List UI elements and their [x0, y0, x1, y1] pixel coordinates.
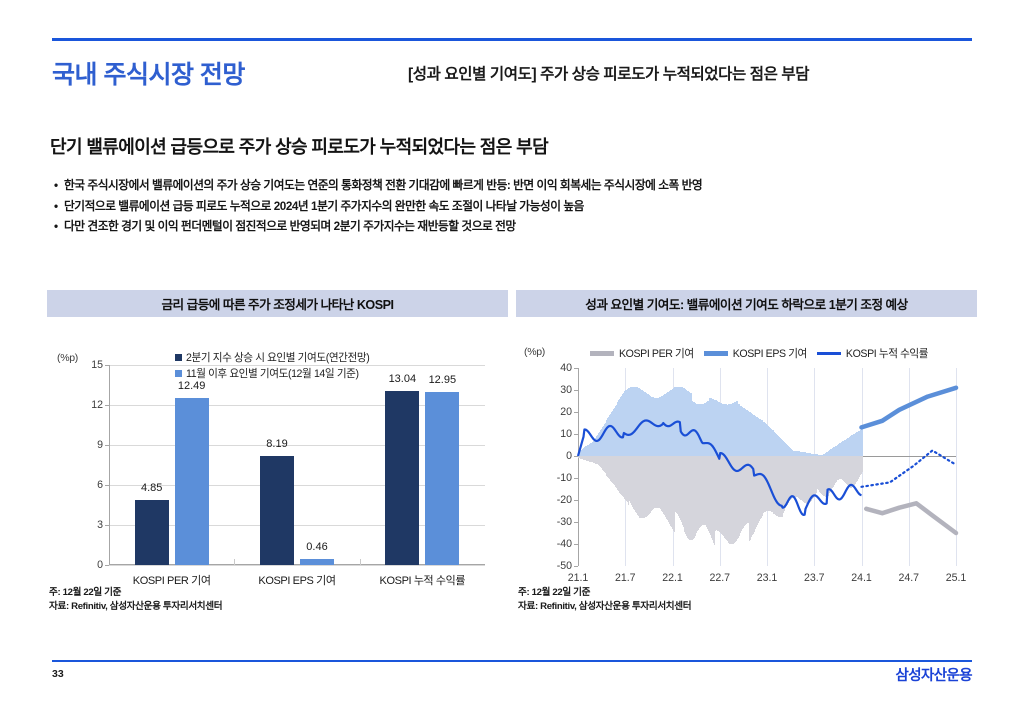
legend-entry: KOSPI EPS 기여	[704, 346, 807, 361]
legend-swatch-icon	[817, 352, 841, 355]
x-axis-category-label: KOSPI EPS 기여	[258, 572, 335, 588]
cumulative-return-line	[578, 420, 862, 515]
legend-swatch-icon	[590, 351, 614, 356]
bar-value-label: 0.46	[306, 541, 327, 553]
y-axis-tick-label: 9	[97, 439, 103, 451]
page-number: 33	[52, 668, 64, 680]
right-axis-unit: (%p)	[524, 346, 545, 358]
y-axis-tick-label: 20	[560, 406, 572, 418]
brand-logo: 삼성자산운용	[896, 664, 972, 685]
left-plot-area: 036912154.8512.49KOSPI PER 기여8.190.46KOS…	[109, 365, 485, 565]
y-axis-tick-mark	[574, 566, 578, 567]
legend-label: KOSPI 누적 수익률	[846, 346, 928, 361]
y-axis-tick-label: 40	[560, 362, 572, 374]
bullet-marker-icon: •	[54, 217, 64, 238]
left-note-2: 자료: Refinitiv, 삼성자산운용 투자리서치센터	[49, 600, 222, 614]
legend-entry: 2분기 지수 상승 시 요인별 기여도(연간전망)	[175, 349, 369, 365]
y-axis-tick-label: 10	[560, 428, 572, 440]
legend-label: KOSPI EPS 기여	[733, 346, 807, 361]
legend-entry: KOSPI 누적 수익률	[817, 346, 928, 361]
cumulative-return-forecast-line	[862, 451, 957, 487]
right-chart-legend: KOSPI PER 기여KOSPI EPS 기여KOSPI 누적 수익률	[590, 346, 928, 361]
bar-value-label: 12.95	[429, 374, 457, 386]
right-chart-lines	[578, 368, 956, 566]
y-axis-tick-label: 6	[97, 479, 103, 491]
bar-annual	[385, 391, 419, 565]
gridline	[109, 565, 485, 566]
left-panel-title: 금리 급등에 따른 주가 조정세가 나타난 KOSPI	[161, 294, 393, 313]
bullet-text: 한국 주식시장에서 밸류에이션의 주가 상승 기여도는 연준의 통화정책 전환 …	[64, 176, 702, 197]
category-separator	[234, 559, 235, 565]
lead-statement: 단기 밸류에이션 급등으로 주가 상승 피로도가 누적되었다는 점은 부담	[50, 133, 548, 159]
bar-value-label: 13.04	[389, 373, 417, 385]
right-plot-area: 403020100-10-20-30-40-5021.121.722.122.7…	[578, 368, 956, 566]
bar-recent	[425, 392, 459, 565]
y-axis-tick-label: 12	[91, 399, 103, 411]
y-axis-tick-mark	[105, 565, 109, 566]
x-axis-category-label: KOSPI PER 기여	[133, 572, 211, 588]
x-axis-tick-label: 25.1	[946, 572, 967, 584]
bullet-text: 다만 견조한 경기 및 이익 펀더멘털이 점진적으로 반영되며 2분기 주가지수…	[64, 217, 516, 238]
eps-forecast-line	[862, 388, 957, 428]
y-axis-tick-label: -10	[557, 472, 572, 484]
x-axis-tick-label: 23.7	[804, 572, 825, 584]
legend-label: 2분기 지수 상승 시 요인별 기여도(연간전망)	[186, 350, 369, 365]
bar-annual	[260, 456, 294, 565]
y-axis-tick-label: 3	[97, 519, 103, 531]
legend-swatch-icon	[704, 351, 728, 356]
bar-annual	[135, 500, 169, 565]
legend-swatch-icon	[175, 354, 182, 361]
bullet-marker-icon: •	[54, 197, 64, 218]
x-axis-tick-label: 24.1	[851, 572, 872, 584]
left-axis-unit: (%p)	[57, 352, 78, 364]
y-axis-tick-label: -30	[557, 516, 572, 528]
x-axis-tick-label: 23.1	[757, 572, 778, 584]
left-panel-header: 금리 급등에 따른 주가 조정세가 나타난 KOSPI	[47, 290, 508, 317]
bar-value-label: 12.49	[178, 380, 206, 392]
right-panel-header: 성과 요인별 기여도: 밸류에이션 기여도 하락으로 1분기 조정 예상	[516, 290, 977, 317]
y-axis-line	[109, 365, 110, 565]
legend-label: KOSPI PER 기여	[619, 346, 694, 361]
bar-recent	[175, 398, 209, 565]
y-axis-tick-label: -50	[557, 560, 572, 572]
x-axis-category-label: KOSPI 누적 수익률	[380, 572, 466, 588]
x-axis-tick-label: 22.7	[709, 572, 730, 584]
bullet-item: •단기적으로 밸류에이션 급등 피로도 누적으로 2024년 1분기 주가지수의…	[54, 197, 994, 218]
y-axis-tick-label: 15	[91, 359, 103, 371]
right-note-1: 주: 12월 22일 기준	[518, 586, 590, 600]
slide: 국내 주식시장 전망 [성과 요인별 기여도] 주가 상승 피로도가 누적되었다…	[0, 0, 1024, 709]
left-chart-panel: 금리 급등에 따른 주가 조정세가 나타난 KOSPI (%p) 2분기 지수 …	[47, 290, 508, 620]
gridline	[109, 365, 485, 366]
page-title: 국내 주식시장 전망	[52, 55, 245, 91]
footer-rule	[52, 660, 972, 662]
right-panel-title: 성과 요인별 기여도: 밸류에이션 기여도 하락으로 1분기 조정 예상	[585, 294, 907, 313]
x-axis-tick-label: 22.1	[662, 572, 683, 584]
right-chart-panel: 성과 요인별 기여도: 밸류에이션 기여도 하락으로 1분기 조정 예상 (%p…	[516, 290, 977, 620]
x-axis-tick-label: 21.1	[568, 572, 589, 584]
bar-recent	[300, 559, 334, 565]
left-note-1: 주: 12월 22일 기준	[49, 586, 121, 600]
bullet-item: •한국 주식시장에서 밸류에이션의 주가 상승 기여도는 연준의 통화정책 전환…	[54, 176, 994, 197]
bullet-text: 단기적으로 밸류에이션 급등 피로도 누적으로 2024년 1분기 주가지수의 …	[64, 197, 584, 218]
bar-value-label: 8.19	[266, 438, 287, 450]
y-axis-tick-label: 0	[566, 450, 572, 462]
legend-entry: KOSPI PER 기여	[590, 346, 694, 361]
bar-value-label: 4.85	[141, 482, 162, 494]
x-axis-tick-label: 21.7	[615, 572, 636, 584]
y-axis-tick-label: 0	[97, 559, 103, 571]
y-axis-tick-label: -20	[557, 494, 572, 506]
right-note-2: 자료: Refinitiv, 삼성자산운용 투자리서치센터	[518, 600, 691, 614]
category-separator	[360, 559, 361, 565]
bullet-list: •한국 주식시장에서 밸류에이션의 주가 상승 기여도는 연준의 통화정책 전환…	[54, 176, 994, 238]
bullet-item: •다만 견조한 경기 및 이익 펀더멘털이 점진적으로 반영되며 2분기 주가지…	[54, 217, 994, 238]
page-subtitle: [성과 요인별 기여도] 주가 상승 피로도가 누적되었다는 점은 부담	[408, 62, 809, 84]
y-axis-tick-label: 30	[560, 384, 572, 396]
x-axis-tick-label: 24.7	[898, 572, 919, 584]
y-axis-tick-label: -40	[557, 538, 572, 550]
header-rule	[52, 38, 972, 41]
per-forecast-line	[866, 503, 956, 533]
gridline-vertical	[956, 368, 957, 566]
bullet-marker-icon: •	[54, 176, 64, 197]
